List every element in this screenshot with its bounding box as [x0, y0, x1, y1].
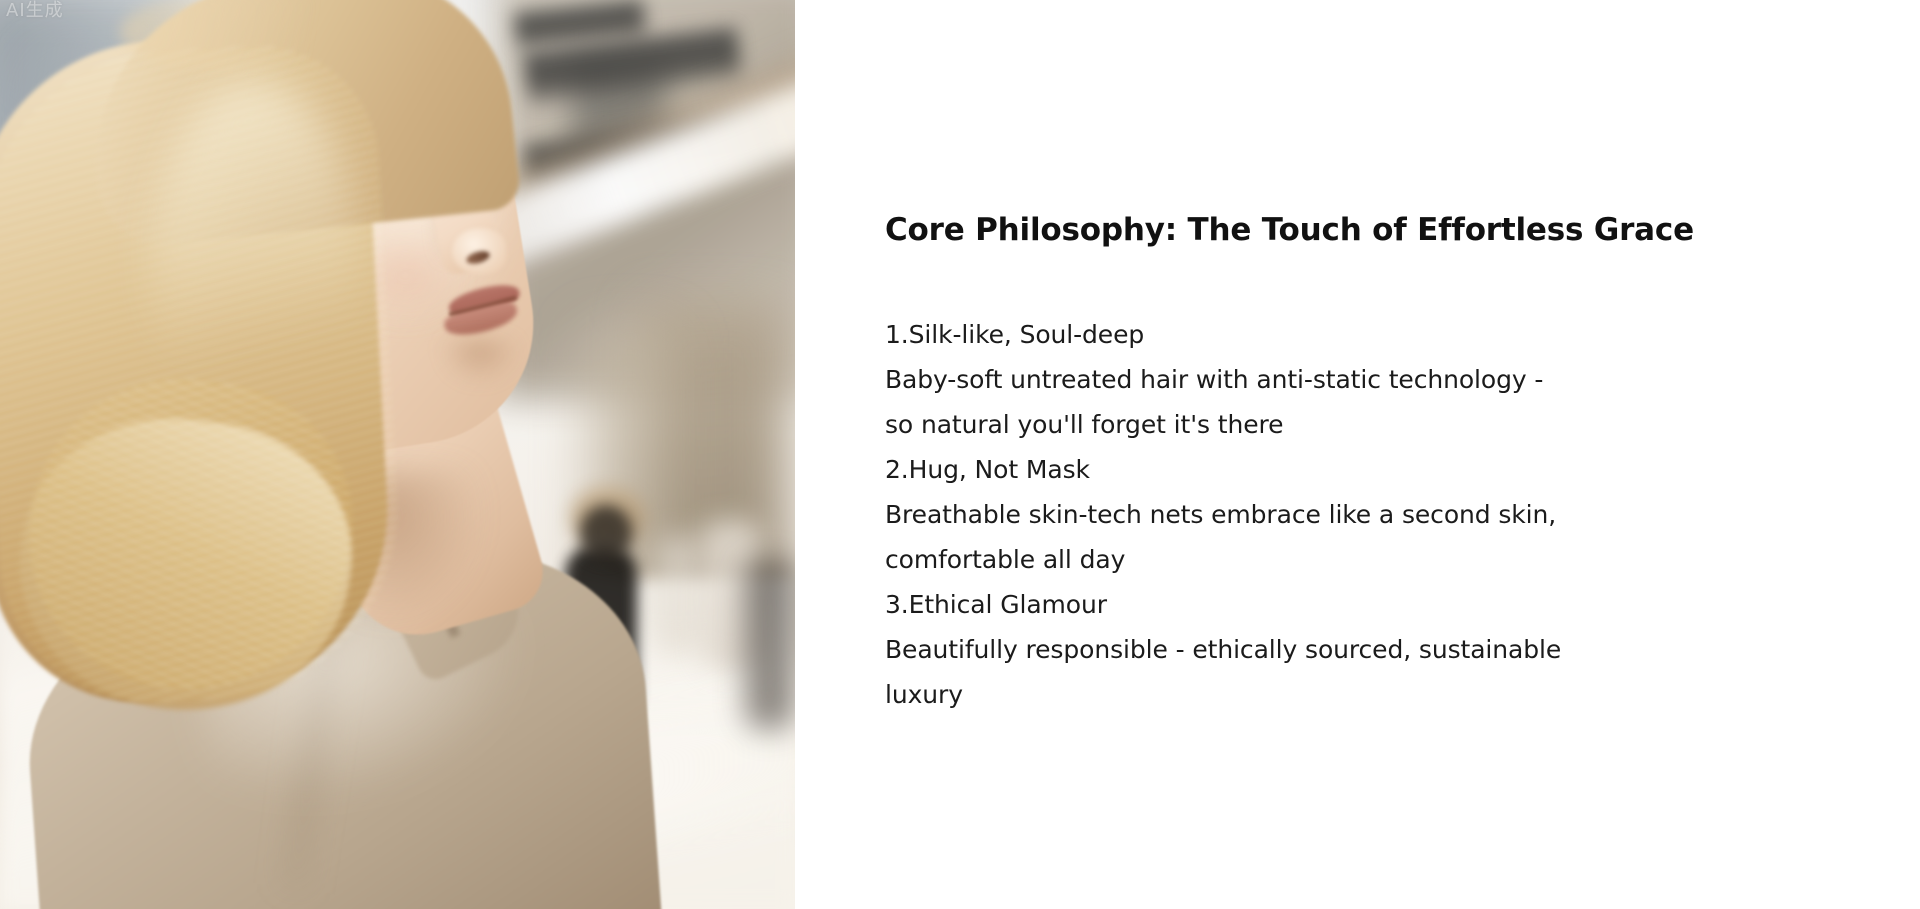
chin-shadow — [440, 340, 520, 384]
text-panel: Core Philosophy: The Touch of Effortless… — [795, 0, 1920, 909]
list-item: so natural you'll forget it's there — [885, 402, 1745, 447]
list-item: luxury — [885, 672, 1745, 717]
list-item: 2.Hug, Not Mask — [885, 447, 1745, 492]
list-item: 1.Silk-like, Soul-deep — [885, 312, 1745, 357]
slide-root: AI生成 Core Philosophy: The Touch of Effor… — [0, 0, 1920, 909]
list-item: Baby-soft untreated hair with anti-stati… — [885, 357, 1745, 402]
text-content: Core Philosophy: The Touch of Effortless… — [885, 210, 1745, 717]
hair-highlight — [150, 80, 360, 460]
ai-watermark: AI生成 — [6, 1, 64, 21]
list-item: comfortable all day — [885, 537, 1745, 582]
lifestyle-portrait-image: AI生成 — [0, 0, 795, 909]
list-item: Breathable skin-tech nets embrace like a… — [885, 492, 1745, 537]
list-item: Beautifully responsible - ethically sour… — [885, 627, 1745, 672]
subject-woman — [0, 0, 795, 909]
page-title: Core Philosophy: The Touch of Effortless… — [885, 210, 1745, 250]
philosophy-list: 1.Silk-like, Soul-deep Baby-soft untreat… — [885, 312, 1745, 717]
list-item: 3.Ethical Glamour — [885, 582, 1745, 627]
